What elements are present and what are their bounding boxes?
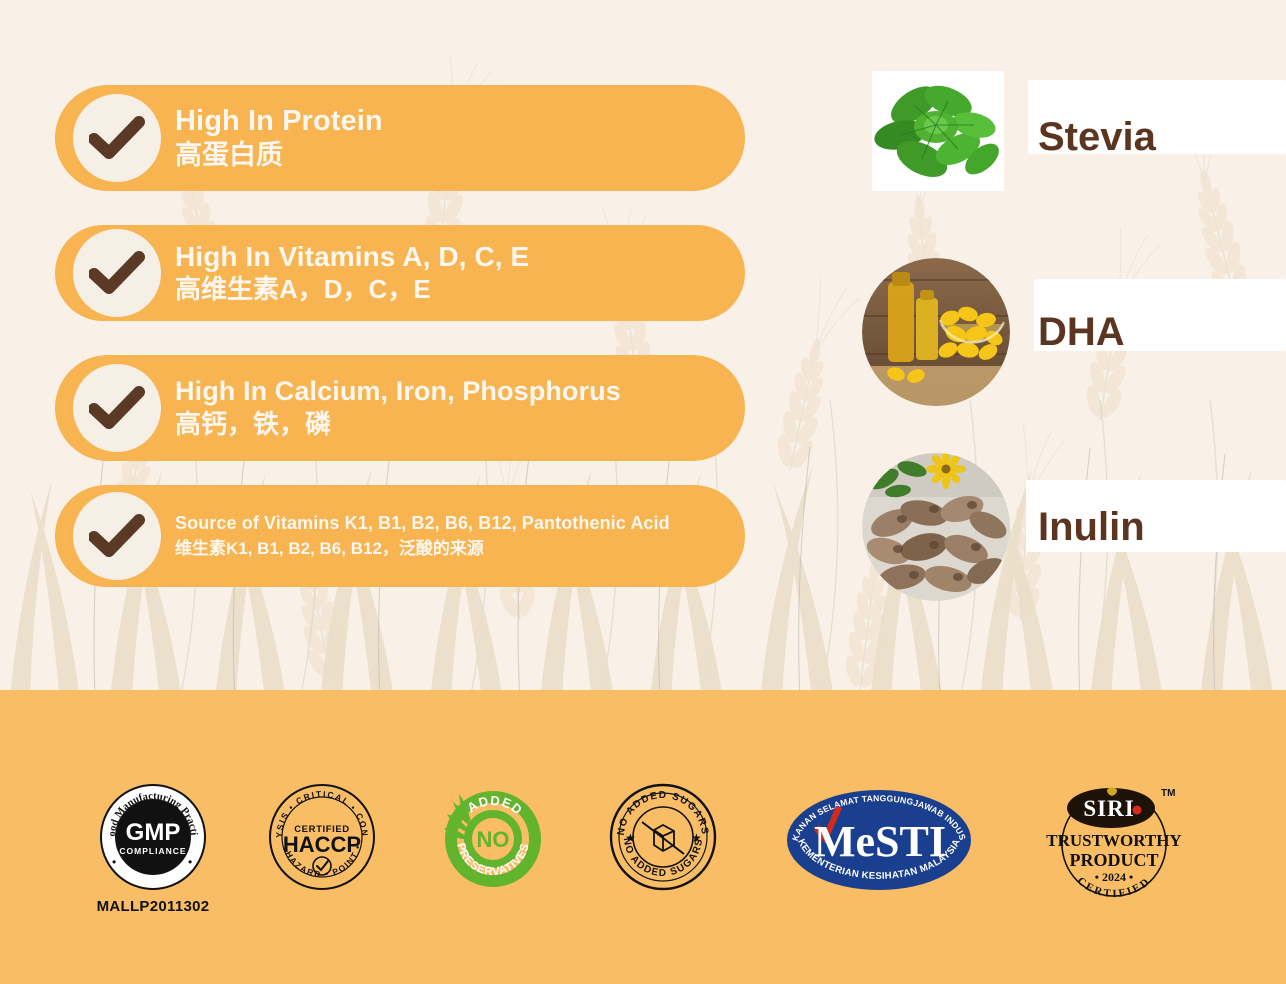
feature-label-zh: 维生素K1, B1, B2, B6, B12，泛酸的来源	[175, 536, 670, 561]
svg-text:NO: NO	[477, 827, 510, 852]
stevia-leaves-photo	[862, 63, 1010, 211]
feature-item-source-of-vitamins[interactable]: Source of Vitamins K1, B1, B2, B6, B12, …	[55, 485, 745, 587]
feature-text: High In Vitamins A, D, C, E 高维生素A，D，C，E	[175, 240, 529, 306]
check-icon	[73, 492, 161, 580]
product-benefits-poster: High In Protein 高蛋白质 High In Vitamins A,…	[0, 0, 1286, 984]
svg-text:★: ★	[691, 831, 702, 845]
certification-logo-row: Good Manufacturing Practice MALAYSIA • •…	[0, 782, 1286, 915]
feature-item-high-in-protein[interactable]: High In Protein 高蛋白质	[55, 85, 745, 191]
certification-no-added-preservatives[interactable]: ADDED PRESERVATIVES NO	[435, 782, 550, 898]
certification-haccp[interactable]: • ANALYSIS • CRITICAL • CONTROL • • HAZA…	[267, 782, 377, 898]
no-added-sugars-badge-icon: NO ADDED SUGARS NO ADDED SUGARS ★ ★	[608, 782, 718, 892]
mesti-badge-icon: MAKANAN SELAMAT TANGGUNGJAWAB INDUSTRI K…	[776, 782, 981, 894]
ingredient-item-stevia[interactable]: Stevia	[862, 62, 1286, 212]
jerusalem-artichoke-photo	[862, 453, 1010, 601]
certification-mesti[interactable]: MAKANAN SELAMAT TANGGUNGJAWAB INDUSTRI K…	[776, 782, 981, 900]
no-added-preservatives-badge-icon: ADDED PRESERVATIVES NO	[435, 782, 550, 892]
check-icon	[73, 229, 161, 317]
certification-gmp[interactable]: Good Manufacturing Practice MALAYSIA • •…	[97, 782, 210, 915]
feature-label-en: High In Calcium, Iron, Phosphorus	[175, 375, 621, 408]
feature-label-en: High In Protein	[175, 104, 383, 138]
fish-oil-capsules-photo	[862, 258, 1010, 406]
svg-text:COMPLIANCE: COMPLIANCE	[119, 846, 186, 856]
ingredient-list: Stevia	[862, 62, 1286, 632]
svg-text:PRODUCT: PRODUCT	[1070, 850, 1159, 870]
svg-text:MeSTI: MeSTI	[814, 817, 946, 866]
feature-label-zh: 高蛋白质	[175, 138, 383, 172]
ingredient-name: Inulin	[1038, 504, 1145, 550]
svg-text:HACCP: HACCP	[283, 832, 361, 857]
feature-text: High In Calcium, Iron, Phosphorus 高钙，铁，磷	[175, 375, 621, 441]
feature-text: Source of Vitamins K1, B1, B2, B6, B12, …	[175, 511, 670, 561]
certification-band: Good Manufacturing Practice MALAYSIA • •…	[0, 690, 1286, 984]
ingredient-item-dha[interactable]: DHA	[862, 257, 1286, 407]
feature-item-high-in-vitamins[interactable]: High In Vitamins A, D, C, E 高维生素A，D，C，E	[55, 225, 745, 321]
feature-label-zh: 高维生素A，D，C，E	[175, 273, 529, 306]
svg-text:•: •	[188, 855, 192, 869]
svg-text:TM: TM	[1161, 788, 1175, 799]
svg-text:•: •	[112, 855, 116, 869]
check-icon	[73, 94, 161, 182]
feature-text: High In Protein 高蛋白质	[175, 104, 383, 172]
sirim-trustworthy-product-badge-icon: SIRI TM TRUSTWORTHY PRODUCT • 2024 • CER…	[1039, 782, 1189, 904]
certification-caption: MALLP2011302	[97, 898, 210, 915]
ingredient-item-inulin[interactable]: Inulin	[862, 452, 1286, 602]
certification-no-added-sugars[interactable]: NO ADDED SUGARS NO ADDED SUGARS ★ ★	[608, 782, 718, 898]
gmp-badge-icon: Good Manufacturing Practice MALAYSIA • •…	[98, 782, 208, 892]
svg-text:GMP: GMP	[126, 819, 181, 846]
svg-text:★: ★	[625, 831, 636, 845]
feature-item-high-in-minerals[interactable]: High In Calcium, Iron, Phosphorus 高钙，铁，磷	[55, 355, 745, 461]
certification-sirim-trustworthy-product[interactable]: SIRI TM TRUSTWORTHY PRODUCT • 2024 • CER…	[1039, 782, 1189, 910]
svg-text:TRUSTWORTHY: TRUSTWORTHY	[1047, 831, 1182, 850]
check-icon	[73, 364, 161, 452]
svg-text:SIRI: SIRI	[1084, 796, 1135, 821]
ingredient-name: DHA	[1038, 309, 1125, 355]
feature-label-en: High In Vitamins A, D, C, E	[175, 240, 529, 273]
svg-text:• 2024 •: • 2024 •	[1095, 870, 1133, 884]
feature-label-zh: 高钙，铁，磷	[175, 408, 621, 441]
haccp-badge-icon: • ANALYSIS • CRITICAL • CONTROL • • HAZA…	[267, 782, 377, 892]
feature-label-en: Source of Vitamins K1, B1, B2, B6, B12, …	[175, 511, 670, 536]
ingredient-name: Stevia	[1038, 114, 1156, 160]
